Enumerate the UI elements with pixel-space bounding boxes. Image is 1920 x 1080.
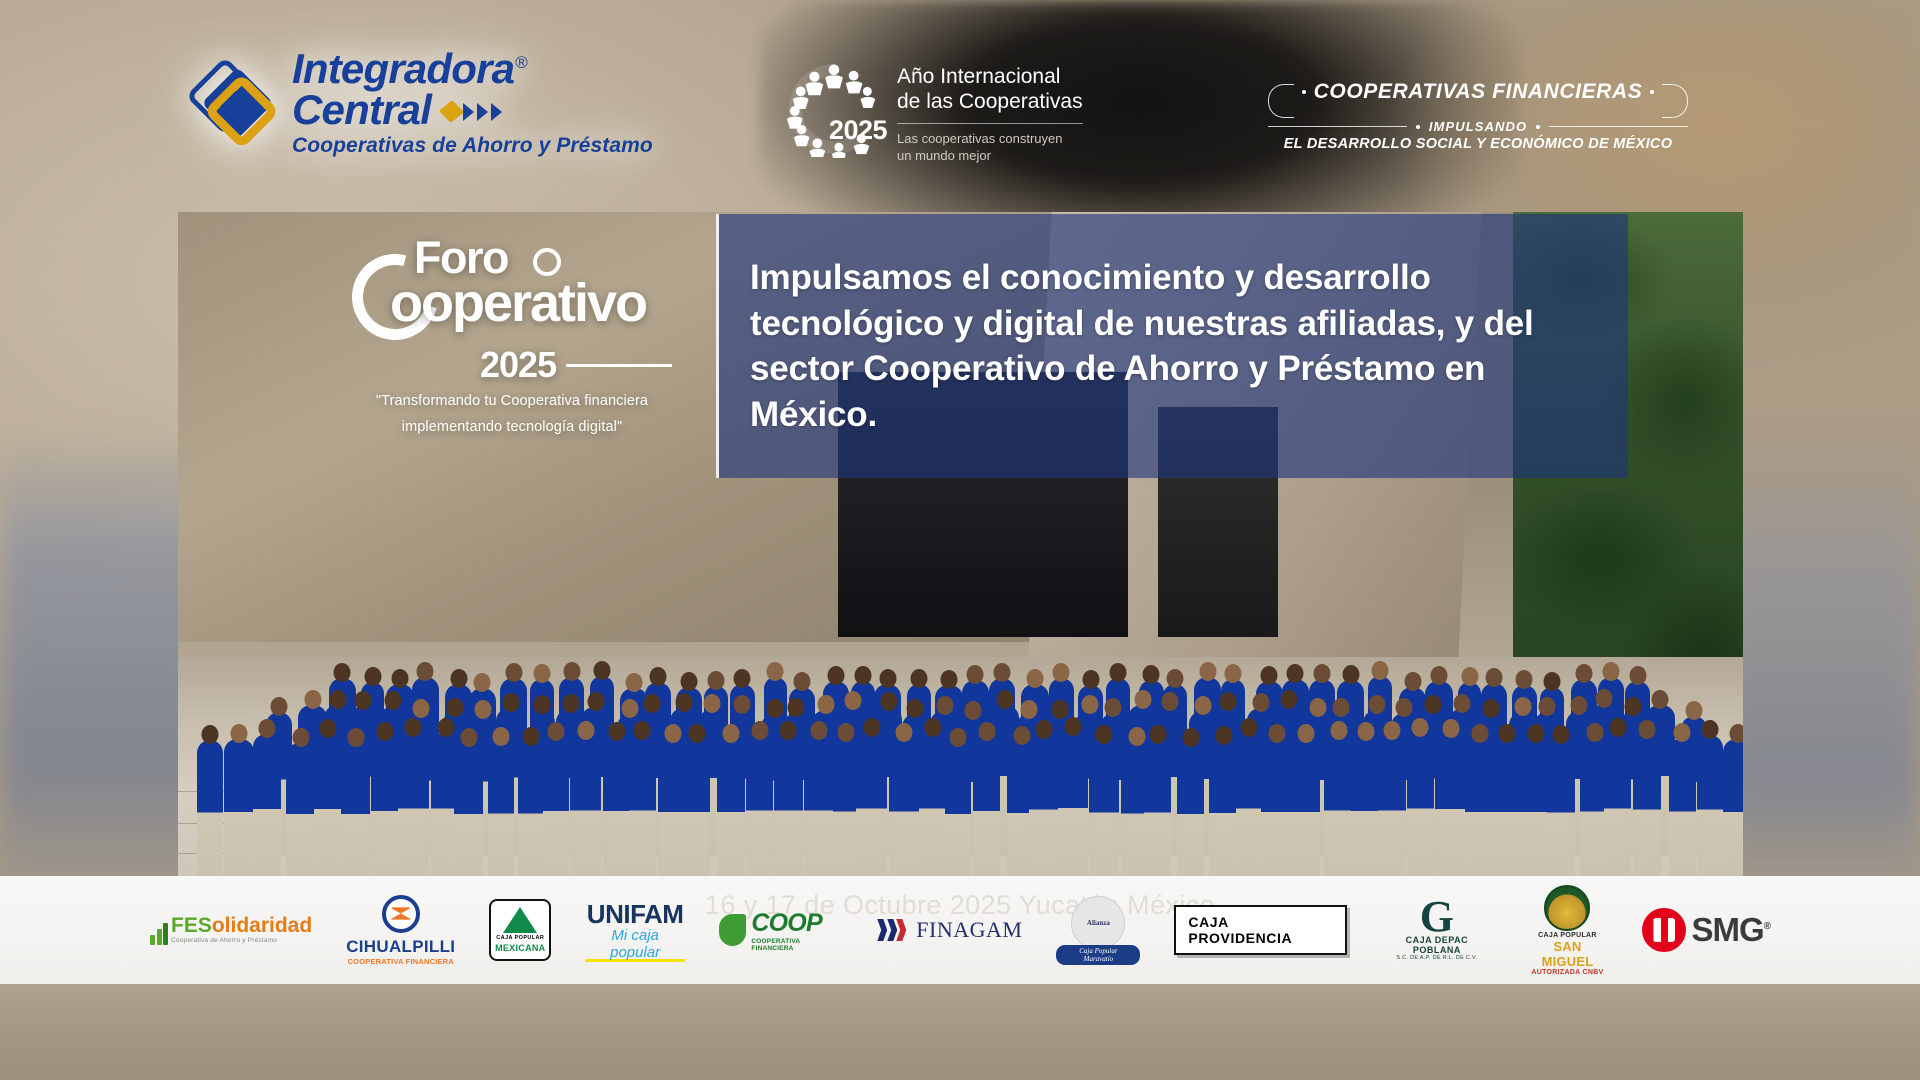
integradora-line2: Central: [292, 89, 431, 130]
bracket-left-icon: [1268, 84, 1294, 118]
unifam-tagline: Mi caja popular: [585, 927, 685, 961]
dot-icon: [1416, 125, 1420, 129]
chevron-group-icon: [443, 103, 502, 121]
depac-name: CAJA DEPAC POBLANA: [1381, 935, 1492, 955]
backdrop-bluegrey-right: [1720, 430, 1920, 900]
foro-tagline-line1: "Transformando tu Cooperativa financiera: [352, 392, 672, 412]
chevron-right-icon: [463, 103, 474, 121]
cihualpilli-name: CIHUALPILLI: [346, 937, 455, 957]
un-tagline-line1: Las cooperativas construyen: [897, 131, 1083, 148]
finagam-lockup: FINAGAM: [876, 913, 1022, 947]
cf-row-1: COOPERATIVAS FINANCIERAS: [1268, 66, 1688, 118]
integradora-line1: Integradora®: [292, 48, 653, 89]
integradora-central-diamond-mark: [178, 57, 286, 149]
bar-chart-icon: [150, 923, 168, 945]
dot-icon: [1302, 90, 1306, 94]
sanmiguel-church-seal-icon: [1544, 885, 1590, 931]
logo-ano-internacional-cooperativas: 2025 Año Internacional de las Cooperativ…: [785, 60, 1083, 165]
leaf-icon: [719, 914, 746, 946]
un-title-line1: Año Internacional: [897, 65, 1083, 90]
alianza-band: Caja Popular Maravatío: [1056, 945, 1140, 965]
registered-mark-icon: ®: [515, 53, 527, 72]
coop-name: COOP: [751, 909, 842, 938]
un-year-label: 2025: [829, 115, 887, 146]
fesolidaridad-subtitle: Cooperativa de Ahorro y Préstamo: [171, 938, 312, 945]
cihualpilli-lockup: CIHUALPILLI COOPERATIVA FINANCIERA: [346, 895, 455, 966]
un-tagline-line2: un mundo mejor: [897, 148, 1083, 165]
fesolidaridad-lockup: FESolidaridad Cooperativa de Ahorro y Pr…: [150, 915, 312, 945]
chevron-right-icon: [491, 103, 502, 121]
triangle-icon: [503, 907, 537, 933]
alianza-seal-icon: Alianza: [1071, 896, 1125, 950]
integradora-subtitle: Cooperativas de Ahorro y Préstamo: [292, 134, 653, 158]
foro-year-rule: [566, 364, 672, 367]
cf-tagline: EL DESARROLLO SOCIAL Y ECONÓMICO DE MÉXI…: [1268, 136, 1688, 152]
header-logo-row: Integradora® Central Cooperativas de Aho…: [0, 0, 1920, 215]
poster-canvas: Integradora® Central Cooperativas de Aho…: [0, 0, 1920, 1080]
logo-cooperativas-financieras: COOPERATIVAS FINANCIERAS IMPULSANDO EL D…: [1268, 66, 1688, 152]
sponsor-logo-coop[interactable]: COOP COOPERATIVA FINANCIERA: [719, 892, 842, 968]
headline-text: Impulsamos el conocimiento y desarrollo …: [719, 255, 1628, 437]
sponsor-logo-unifam[interactable]: UNIFAM Mi caja popular: [585, 892, 685, 968]
sponsor-logo-list: FESolidaridad Cooperativa de Ahorro y Pr…: [150, 892, 1770, 968]
alianza-lockup: Alianza Caja Popular Maravatío: [1056, 896, 1140, 965]
sponsor-logo-cihualpilli[interactable]: CIHUALPILLI COOPERATIVA FINANCIERA: [346, 892, 455, 968]
caja-mexicana-line2: MEXICANA: [495, 943, 545, 953]
coop-subtitle: COOPERATIVA FINANCIERA: [751, 938, 842, 952]
foro-year: 2025: [480, 344, 556, 386]
un-title-line2: de las Cooperativas: [897, 90, 1083, 115]
depac-monogram-icon: G: [1381, 899, 1492, 934]
sponsor-logo-fesolidaridad[interactable]: FESolidaridad Cooperativa de Ahorro y Pr…: [150, 892, 312, 968]
dot-icon: [1536, 125, 1540, 129]
dot-icon: [1650, 90, 1654, 94]
sponsor-logo-caja-providencia[interactable]: CAJA PROVIDENCIA: [1174, 892, 1347, 968]
photo-crowd: [178, 570, 1743, 900]
fesolidaridad-name: FESolidaridad: [171, 915, 312, 936]
cihualpilli-subtitle: COOPERATIVA FINANCIERA: [346, 957, 455, 966]
finagam-name: FINAGAM: [916, 917, 1022, 943]
diamond-icon: [439, 100, 464, 123]
sponsor-logo-finagam[interactable]: FINAGAM: [876, 892, 1022, 968]
caja-mexicana-lockup: CAJA POPULAR MEXICANA: [489, 899, 551, 961]
providencia-name: CAJA PROVIDENCIA: [1188, 914, 1333, 946]
cihualpilli-ring-icon: [382, 895, 420, 933]
sanmiguel-name: SAN MIGUEL: [1526, 939, 1608, 969]
foro-year-row: 2025: [480, 344, 672, 386]
sponsor-logo-alianza[interactable]: Alianza Caja Popular Maravatío: [1056, 892, 1140, 968]
sponsor-logo-caja-depac-poblana[interactable]: G CAJA DEPAC POBLANA S.C. DE A.P. DE R.L…: [1381, 892, 1492, 968]
unifam-lockup: UNIFAM Mi caja popular: [585, 899, 685, 962]
coop-text: COOP COOPERATIVA FINANCIERA: [751, 909, 842, 952]
sponsor-logo-caja-popular-mexicana[interactable]: CAJA POPULAR MEXICANA: [489, 892, 551, 968]
coop-lockup: COOP COOPERATIVA FINANCIERA: [719, 909, 842, 952]
smg-lockup: SMG®: [1642, 908, 1770, 952]
smg-circle-icon: [1642, 908, 1686, 952]
foro-tagline-line2: implementando tecnología digital": [352, 418, 672, 438]
logo-foro-cooperativo-2025: Foro ooperativo 2025 "Transformando tu C…: [352, 232, 672, 437]
headline-panel: Impulsamos el conocimiento y desarrollo …: [716, 214, 1628, 478]
foro-lockup: Foro ooperativo: [352, 232, 672, 342]
rule-right: [1549, 126, 1688, 127]
sponsor-logo-smg[interactable]: SMG®: [1642, 892, 1770, 968]
smg-name: SMG®: [1691, 911, 1770, 949]
logo-integradora-central: Integradora® Central Cooperativas de Aho…: [178, 48, 653, 158]
sanmiguel-lockup: CAJA POPULAR SAN MIGUEL AUTORIZADA CNBV: [1526, 885, 1608, 976]
sanmiguel-line0: CAJA POPULAR: [1526, 932, 1608, 939]
chevron-right-icon: [477, 103, 488, 121]
bracket-right-icon: [1662, 84, 1688, 118]
divider: [897, 123, 1083, 124]
sponsor-logo-san-miguel[interactable]: CAJA POPULAR SAN MIGUEL AUTORIZADA CNBV: [1526, 892, 1608, 968]
finagam-chevrons-icon: [876, 913, 910, 947]
cf-row-2: IMPULSANDO: [1268, 119, 1688, 134]
sanmiguel-subtitle: AUTORIZADA CNBV: [1526, 969, 1608, 976]
integradora-wordmark: Integradora® Central Cooperativas de Aho…: [292, 48, 653, 158]
rule-left: [1268, 126, 1407, 127]
cf-subtitle: IMPULSANDO: [1429, 119, 1527, 134]
cooperative-people-circle-icon: 2025: [785, 60, 883, 158]
cf-title: COOPERATIVAS FINANCIERAS: [1314, 80, 1643, 104]
fesolidaridad-text: FESolidaridad Cooperativa de Ahorro y Pr…: [171, 915, 312, 945]
depac-lockup: G CAJA DEPAC POBLANA S.C. DE A.P. DE R.L…: [1381, 899, 1492, 960]
depac-subtitle: S.C. DE A.P. DE R.L. DE C.V.: [1381, 955, 1492, 961]
unifam-name: UNIFAM: [585, 899, 685, 930]
sponsor-logo-bar: 16 y 17 de Octubre 2025 Yucatán México F…: [0, 876, 1920, 984]
integradora-line2-row: Central: [292, 89, 653, 130]
registered-mark-icon: ®: [1764, 921, 1770, 932]
foro-word-cooperativo: ooperativo: [390, 272, 646, 334]
backdrop-bottom-band: [0, 984, 1920, 1080]
providencia-lockup: CAJA PROVIDENCIA: [1174, 905, 1347, 955]
caja-mexicana-line1: CAJA POPULAR: [496, 935, 544, 941]
un-text-block: Año Internacional de las Cooperativas La…: [897, 60, 1083, 165]
